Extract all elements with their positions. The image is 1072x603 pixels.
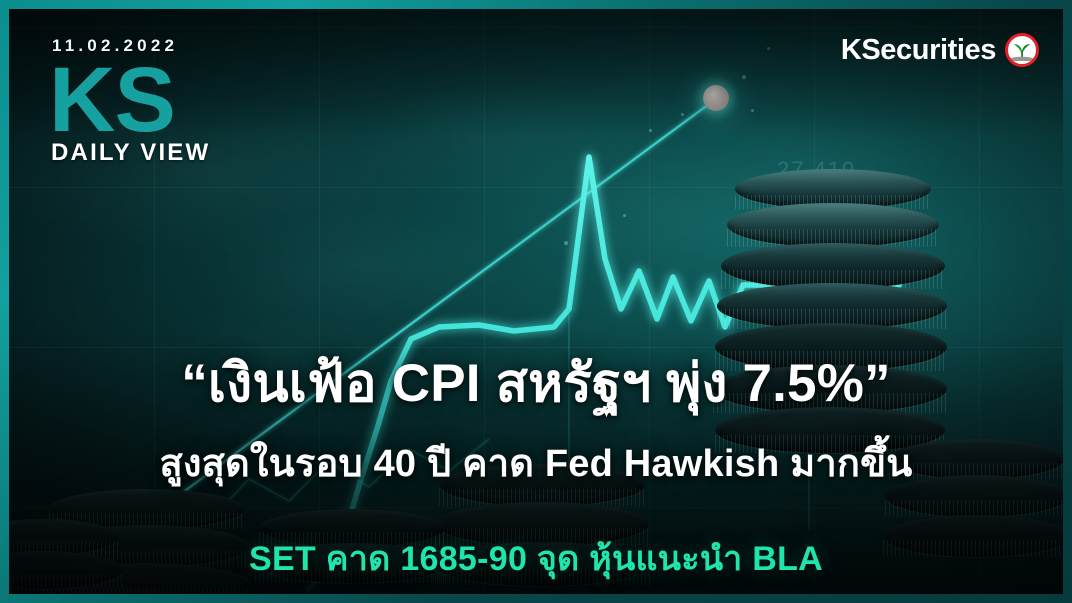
trend-arrow-line	[79, 104, 709, 569]
page-headline: “เงินเฟ้อ CPI สหรัฐฯ พุ่ง 7.5%”	[9, 341, 1063, 425]
spark-dot	[681, 113, 684, 116]
brand-wordmark-rest: Securities	[861, 34, 996, 66]
spark-dot	[623, 214, 626, 217]
stock-recommendation: SET คาด 1685-90 จุด หุ้นแนะนำ BLA	[9, 531, 1063, 585]
page-subheadline: สูงสุดในรอบ 40 ปี คาด Fed Hawkish มากขึ้…	[9, 432, 1063, 493]
spark-dot	[742, 75, 746, 79]
spark-dot	[649, 129, 652, 132]
glow-dot	[703, 85, 729, 111]
artwork-area: 27,410	[9, 9, 1063, 594]
sprout-glyph	[1009, 37, 1035, 63]
daily-view-subtitle: DAILY VIEW	[51, 139, 210, 167]
poster-root: 27,410	[0, 0, 1072, 603]
brand-wordmark-k: K	[841, 34, 862, 66]
brand-wordmark: KSecurities	[841, 36, 996, 65]
ksecurities-brand[interactable]: KSecurities	[841, 33, 1039, 67]
ks-logo-text: KS	[49, 57, 175, 144]
kasikorn-sprout-icon	[1005, 33, 1039, 67]
spark-dot	[564, 241, 568, 245]
spark-dot	[751, 109, 754, 112]
ticker-ghost-number: 27,410	[777, 157, 856, 183]
spark-dot	[767, 47, 770, 50]
